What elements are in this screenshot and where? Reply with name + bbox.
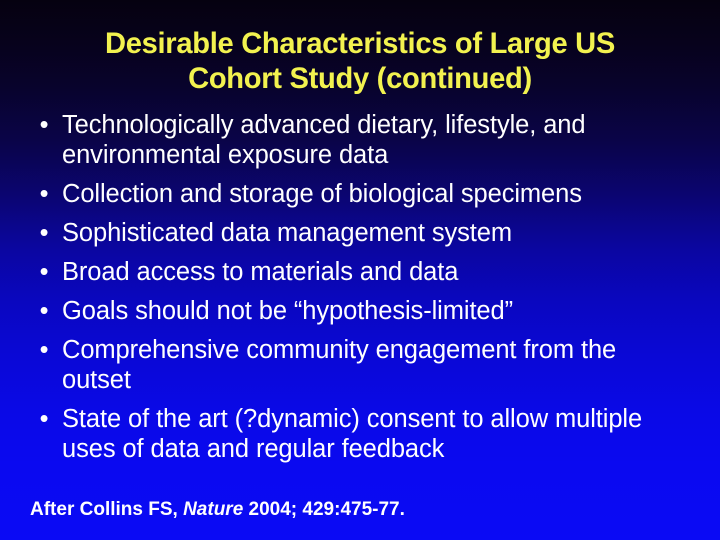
citation-prefix: After Collins FS, xyxy=(30,499,183,520)
list-item: • Broad access to materials and data xyxy=(30,257,690,287)
list-item: • Technologically advanced dietary, life… xyxy=(30,110,690,170)
list-item-label: Sophisticated data management system xyxy=(62,218,690,248)
bullet-dot-icon: • xyxy=(37,218,51,248)
bullet-dot-icon: • xyxy=(37,257,51,287)
list-item-label: State of the art (?dynamic) consent to a… xyxy=(62,404,690,464)
list-item: • Sophisticated data management system xyxy=(30,218,690,248)
list-item-label: Goals should not be “hypothesis-limited” xyxy=(62,296,690,326)
list-item-label: Collection and storage of biological spe… xyxy=(62,179,690,209)
list-item: • Goals should not be “hypothesis-limite… xyxy=(30,296,690,326)
list-item: • Comprehensive community engagement fro… xyxy=(30,335,690,395)
list-item-label: Broad access to materials and data xyxy=(62,257,690,287)
bullet-list: • Technologically advanced dietary, life… xyxy=(30,110,690,473)
slide-canvas: Desirable Characteristics of Large US Co… xyxy=(0,0,720,540)
bullet-dot-icon: • xyxy=(37,110,51,140)
list-item: • Collection and storage of biological s… xyxy=(30,179,690,209)
list-item: • State of the art (?dynamic) consent to… xyxy=(30,404,690,464)
bullet-dot-icon: • xyxy=(37,404,51,434)
list-item-label: Technologically advanced dietary, lifest… xyxy=(62,110,690,170)
citation-journal: Nature xyxy=(183,499,243,520)
list-item-label: Comprehensive community engagement from … xyxy=(62,335,690,395)
bullet-dot-icon: • xyxy=(37,296,51,326)
source-citation: After Collins FS, Nature 2004; 429:475-7… xyxy=(30,498,405,521)
bullet-dot-icon: • xyxy=(37,179,51,209)
bullet-dot-icon: • xyxy=(37,335,51,365)
citation-suffix: 2004; 429:475-77. xyxy=(243,499,405,520)
slide-title: Desirable Characteristics of Large US Co… xyxy=(50,26,671,96)
